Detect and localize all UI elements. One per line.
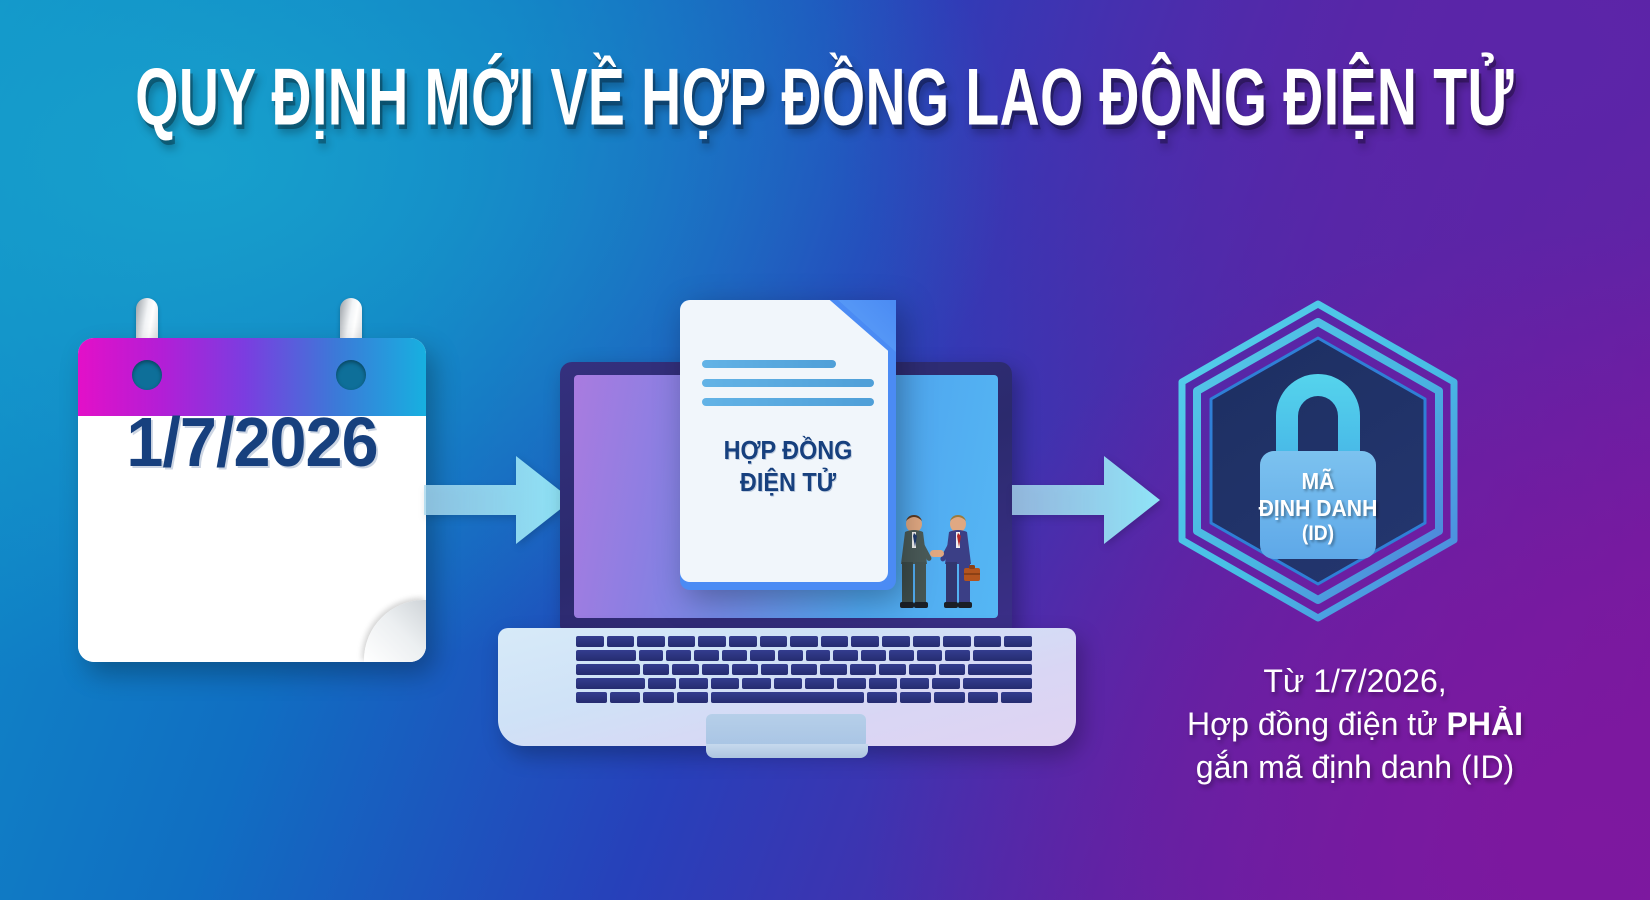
caption-emphasis: PHẢI: [1447, 706, 1523, 742]
lock-body: [1260, 451, 1376, 559]
page-title: QUY ĐỊNH MỚI VỀ HỢP ĐỒNG LAO ĐỘNG ĐIỆN T…: [136, 56, 1515, 137]
document-line: [702, 360, 836, 368]
document-line: [702, 398, 874, 406]
keyboard-row: [576, 636, 1032, 647]
calendar-ring-hole-left: [132, 360, 162, 390]
keyboard-row: [576, 664, 1032, 675]
caption-line-2: Hợp đồng điện tử PHẢI: [1110, 703, 1600, 746]
handshake-icon: [890, 512, 982, 624]
laptop-trackpad: [706, 714, 866, 748]
keyboard-row: [576, 692, 1032, 703]
document-title: HỢP ĐỒNG ĐIỆN TỬ: [696, 435, 880, 498]
caption-line-2-text: Hợp đồng điện tử: [1187, 706, 1446, 742]
page-title-container: QUY ĐỊNH MỚI VỀ HỢP ĐỒNG LAO ĐỘNG ĐIỆN T…: [0, 56, 1650, 122]
caption-block: Từ 1/7/2026, Hợp đồng điện tử PHẢI gắn m…: [1110, 660, 1600, 789]
calendar-icon: 1/7/2026: [78, 338, 426, 662]
laptop-keyboard: [576, 636, 1032, 706]
keyboard-row: [576, 650, 1032, 661]
keyboard-row: [576, 678, 1032, 689]
document-line: [702, 379, 874, 387]
id-lock-badge: MÃ ĐỊNH DANH (ID): [1158, 296, 1478, 626]
laptop-base: [498, 628, 1076, 746]
infographic-canvas: QUY ĐỊNH MỚI VỀ HỢP ĐỒNG LAO ĐỘNG ĐIỆN T…: [0, 0, 1650, 900]
calendar-ring-hole-right: [336, 360, 366, 390]
calendar-date-text: 1/7/2026: [87, 402, 418, 482]
caption-line-1: Từ 1/7/2026,: [1110, 660, 1600, 703]
document-icon: HỢP ĐỒNG ĐIỆN TỬ: [680, 300, 896, 590]
caption-line-3: gắn mã định danh (ID): [1110, 746, 1600, 789]
document-title-line-2: ĐIỆN TỬ: [696, 467, 880, 499]
calendar-body: 1/7/2026: [78, 338, 426, 662]
document-text-lines: [702, 360, 874, 417]
document-title-line-1: HỢP ĐỒNG: [696, 435, 880, 467]
right-arrow-icon: [1012, 452, 1160, 553]
